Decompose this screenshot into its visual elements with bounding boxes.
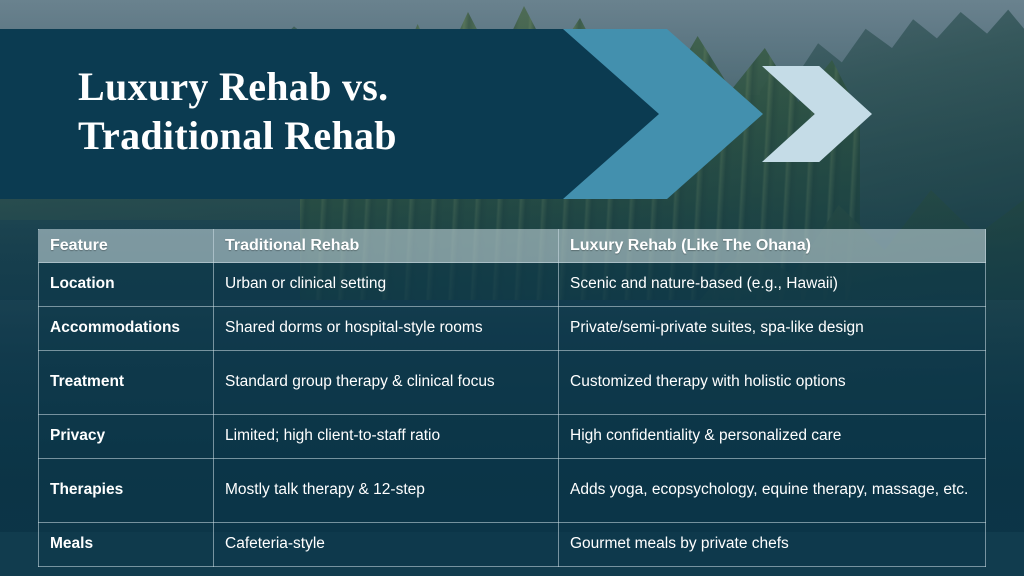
cell-feature: Location (39, 263, 214, 307)
cell-luxury: Private/semi-private suites, spa-like de… (559, 307, 986, 351)
column-header-traditional: Traditional Rehab (214, 230, 559, 263)
cell-traditional: Shared dorms or hospital-style rooms (214, 307, 559, 351)
cell-luxury: Adds yoga, ecopsychology, equine therapy… (559, 459, 986, 523)
cell-feature: Treatment (39, 351, 214, 415)
table-header: Feature Traditional Rehab Luxury Rehab (… (39, 230, 986, 263)
page-title: Luxury Rehab vs. Traditional Rehab (78, 63, 548, 161)
cell-traditional: Mostly talk therapy & 12-step (214, 459, 559, 523)
table-row: PrivacyLimited; high client-to-staff rat… (39, 415, 986, 459)
cell-traditional: Limited; high client-to-staff ratio (214, 415, 559, 459)
cell-feature: Accommodations (39, 307, 214, 351)
cell-feature: Privacy (39, 415, 214, 459)
table-body: LocationUrban or clinical settingScenic … (39, 263, 986, 567)
table-row: LocationUrban or clinical settingScenic … (39, 263, 986, 307)
column-header-feature: Feature (39, 230, 214, 263)
cell-traditional: Cafeteria-style (214, 523, 559, 567)
cell-feature: Meals (39, 523, 214, 567)
cell-luxury: High confidentiality & personalized care (559, 415, 986, 459)
table-row: TreatmentStandard group therapy & clinic… (39, 351, 986, 415)
cell-traditional: Standard group therapy & clinical focus (214, 351, 559, 415)
table-row: TherapiesMostly talk therapy & 12-stepAd… (39, 459, 986, 523)
slide-canvas: Luxury Rehab vs. Traditional Rehab Featu… (0, 0, 1024, 576)
table-header-row: Feature Traditional Rehab Luxury Rehab (… (39, 230, 986, 263)
table-row: AccommodationsShared dorms or hospital-s… (39, 307, 986, 351)
cell-feature: Therapies (39, 459, 214, 523)
cell-luxury: Gourmet meals by private chefs (559, 523, 986, 567)
table-row: MealsCafeteria-styleGourmet meals by pri… (39, 523, 986, 567)
comparison-table: Feature Traditional Rehab Luxury Rehab (… (38, 229, 986, 567)
column-header-luxury: Luxury Rehab (Like The Ohana) (559, 230, 986, 263)
cell-traditional: Urban or clinical setting (214, 263, 559, 307)
cell-luxury: Customized therapy with holistic options (559, 351, 986, 415)
cell-luxury: Scenic and nature-based (e.g., Hawaii) (559, 263, 986, 307)
comparison-table-container: Feature Traditional Rehab Luxury Rehab (… (38, 229, 985, 567)
